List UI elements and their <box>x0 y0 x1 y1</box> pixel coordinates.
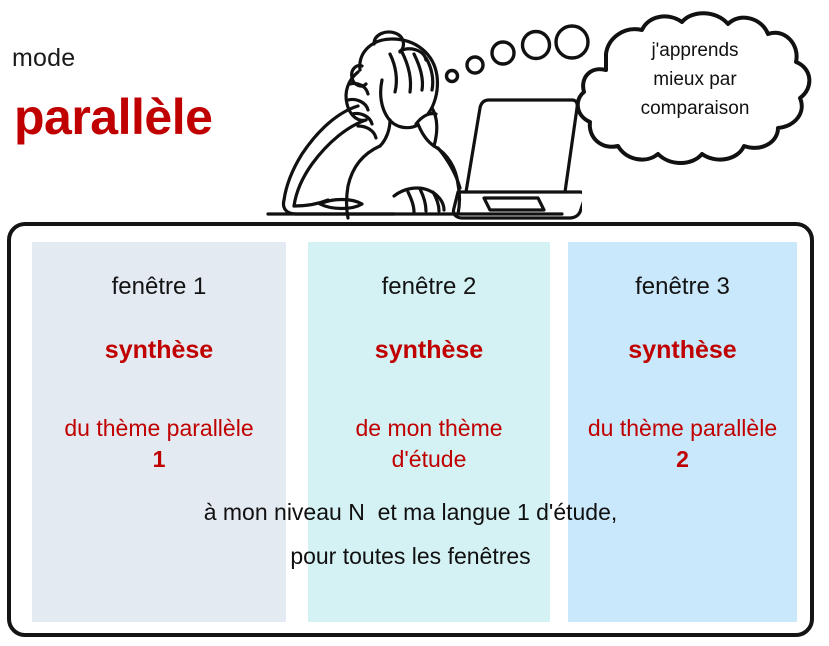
panel-3-content: fenêtre 3 synthèse du thème parallèle 2 <box>568 242 797 506</box>
panel-2-description-text: de mon thème d'étude <box>355 415 502 472</box>
panel-1-window-label: fenêtre 1 <box>32 272 286 302</box>
footer-note-line-1: à mon niveau N et ma langue 1 d'étude, <box>7 490 814 534</box>
panel-1-emphasis: 1 <box>32 444 286 475</box>
panel-1-description-text: du thème parallèle <box>64 415 253 441</box>
bubble-line-2: mieux par <box>600 65 790 94</box>
thought-bubble-text: j'apprends mieux par comparaison <box>600 36 790 123</box>
bubble-line-3: comparaison <box>600 94 790 123</box>
panel-3-synthese-label: synthèse <box>568 335 797 365</box>
panel-1-description: du thème parallèle 1 <box>32 382 286 506</box>
panel-3-window-label: fenêtre 3 <box>568 272 797 302</box>
footer-note: à mon niveau N et ma langue 1 d'étude, p… <box>7 490 814 578</box>
panel-1-content: fenêtre 1 synthèse du thème parallèle 1 <box>32 242 286 506</box>
header-area: mode parallèle <box>0 0 829 222</box>
mode-label: mode <box>12 44 75 73</box>
bubble-line-1: j'apprends <box>600 36 790 65</box>
panel-3-description-text: du thème parallèle <box>588 415 777 441</box>
panel-2-content: fenêtre 2 synthèse de mon thème d'étude <box>308 242 550 506</box>
panel-3-description: du thème parallèle 2 <box>568 382 797 506</box>
panel-1-synthese-label: synthèse <box>32 335 286 365</box>
panel-2-synthese-label: synthèse <box>308 335 550 365</box>
panel-2-window-label: fenêtre 2 <box>308 272 550 302</box>
panel-3-emphasis: 2 <box>568 444 797 475</box>
mode-title: parallèle <box>14 88 212 146</box>
panel-2-description: de mon thème d'étude <box>308 382 550 506</box>
footer-note-line-2: pour toutes les fenêtres <box>7 534 814 578</box>
